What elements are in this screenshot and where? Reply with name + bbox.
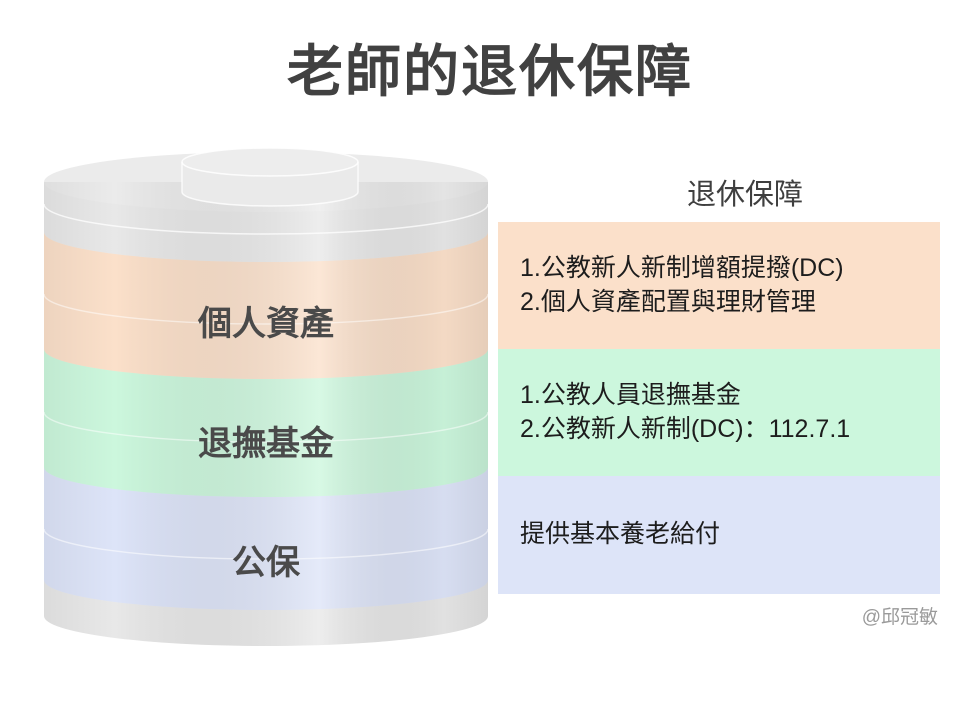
right-column-header: 退休保障	[600, 171, 890, 213]
panel-line: 1.公教人員退撫基金	[520, 379, 940, 413]
slide-canvas: 老師的退休保障	[0, 0, 980, 709]
cylinder-knob	[182, 148, 358, 206]
cylinder-graphic	[44, 148, 488, 656]
panel-line: 2.個人資產配置與理財管理	[520, 286, 940, 320]
panel-pension-fund: 1.公教人員退撫基金 2.公教新人新制(DC)：112.7.1	[498, 349, 940, 476]
panel-line: 提供基本養老給付	[520, 518, 940, 552]
panel-public-insurance: 提供基本養老給付	[498, 476, 940, 594]
panel-personal-assets: 1.公教新人新制增額提撥(DC) 2.個人資產配置與理財管理	[498, 222, 940, 349]
panel-line: 2.公教新人新制(DC)：112.7.1	[520, 413, 940, 447]
page-title: 老師的退休保障	[0, 38, 980, 105]
layered-cylinder-diagram	[44, 148, 488, 656]
author-signature: @邱冠敏	[862, 602, 938, 629]
panel-line: 1.公教新人新制增額提撥(DC)	[520, 252, 940, 286]
right-panel-group: 1.公教新人新制增額提撥(DC) 2.個人資產配置與理財管理 1.公教人員退撫基…	[498, 222, 940, 594]
